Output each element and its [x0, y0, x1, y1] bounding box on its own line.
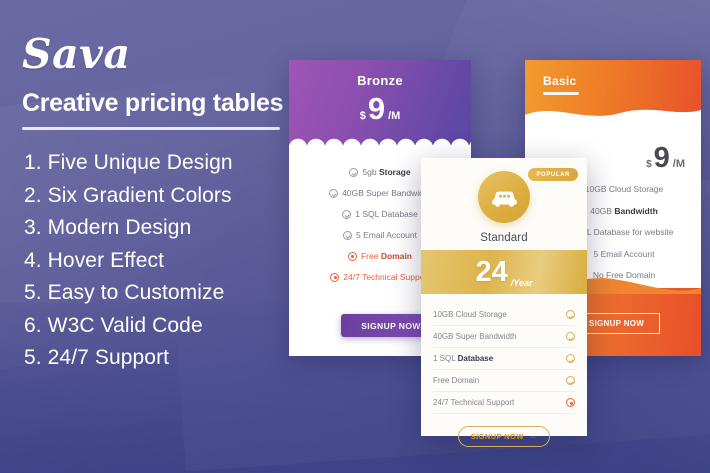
standard-feature-list: 10GB Cloud Storage 40GB Super Bandwidth … [421, 294, 587, 447]
list-item: 3. Modern Design [24, 212, 295, 245]
list-item: 4. Hover Effect [24, 245, 295, 278]
bronze-amount: 9 [368, 93, 385, 124]
bronze-plan-title: Bronze [289, 60, 471, 88]
header-wave-shape [525, 101, 701, 131]
basic-title-underline [543, 92, 579, 95]
standard-price-band: 24 /Year [421, 250, 587, 294]
check-circle-icon [566, 376, 575, 385]
list-item: 10GB Cloud Storage [433, 304, 575, 326]
brand-logo: Sava [10, 34, 295, 75]
standard-amount: 24 [476, 258, 508, 287]
standard-icon-circle [478, 171, 530, 223]
feature-list: 1. Five Unique Design 2. Six Gradient Co… [24, 147, 295, 375]
bronze-price: $ 9 /M [289, 93, 471, 124]
check-circle-icon [566, 354, 575, 363]
basic-amount: 9 [654, 144, 670, 173]
poster-stage: Sava Creative pricing tables 1. Five Uni… [0, 0, 710, 473]
page-title: Creative pricing tables [10, 89, 295, 118]
standard-card-header: POPULAR Standard [421, 158, 587, 250]
bronze-period: /M [388, 110, 400, 122]
scallop-edge [289, 137, 471, 148]
check-circle-icon [329, 189, 338, 198]
pricing-card-standard[interactable]: POPULAR Standard 24 /Year 10GB Cloud Sto… [421, 158, 587, 436]
list-item: 2. Six Gradient Colors [24, 180, 295, 213]
list-item: 24/7 Technical Support [433, 392, 575, 414]
list-item: 1. Five Unique Design [24, 147, 295, 180]
list-item: 40GB Super Bandwidth [433, 326, 575, 348]
list-item: Free Domain [433, 370, 575, 392]
standard-period: /Year [511, 278, 533, 294]
standard-plan-title: Standard [421, 232, 587, 244]
basic-currency: $ [646, 159, 652, 170]
check-circle-icon [343, 231, 352, 240]
list-item: 1 SQL Database [433, 348, 575, 370]
list-item: 5. Easy to Customize [24, 277, 295, 310]
title-divider [22, 127, 280, 130]
check-circle-icon [566, 310, 575, 319]
left-panel: Sava Creative pricing tables 1. Five Uni… [10, 34, 295, 375]
standard-signup-label: SIGNUP NOW [471, 432, 524, 441]
check-circle-icon [349, 168, 358, 177]
check-circle-icon [342, 210, 351, 219]
excluded-dot-icon [566, 398, 575, 407]
list-item: 5. 24/7 Support [24, 342, 295, 375]
bronze-card-header: Bronze $ 9 /M [289, 60, 471, 148]
excluded-dot-icon [348, 252, 357, 261]
car-icon [491, 188, 518, 207]
standard-signup-button[interactable]: SIGNUP NOW → [458, 426, 550, 447]
basic-card-header: Basic [525, 60, 701, 130]
list-item: 6. W3C Valid Code [24, 310, 295, 343]
basic-plan-title: Basic [525, 60, 701, 88]
bronze-currency: $ [360, 110, 366, 122]
arrow-right-icon: → [529, 432, 537, 441]
excluded-dot-icon [330, 273, 339, 282]
status-badge: POPULAR [528, 168, 578, 181]
check-circle-icon [566, 332, 575, 341]
basic-period: /M [673, 158, 685, 170]
